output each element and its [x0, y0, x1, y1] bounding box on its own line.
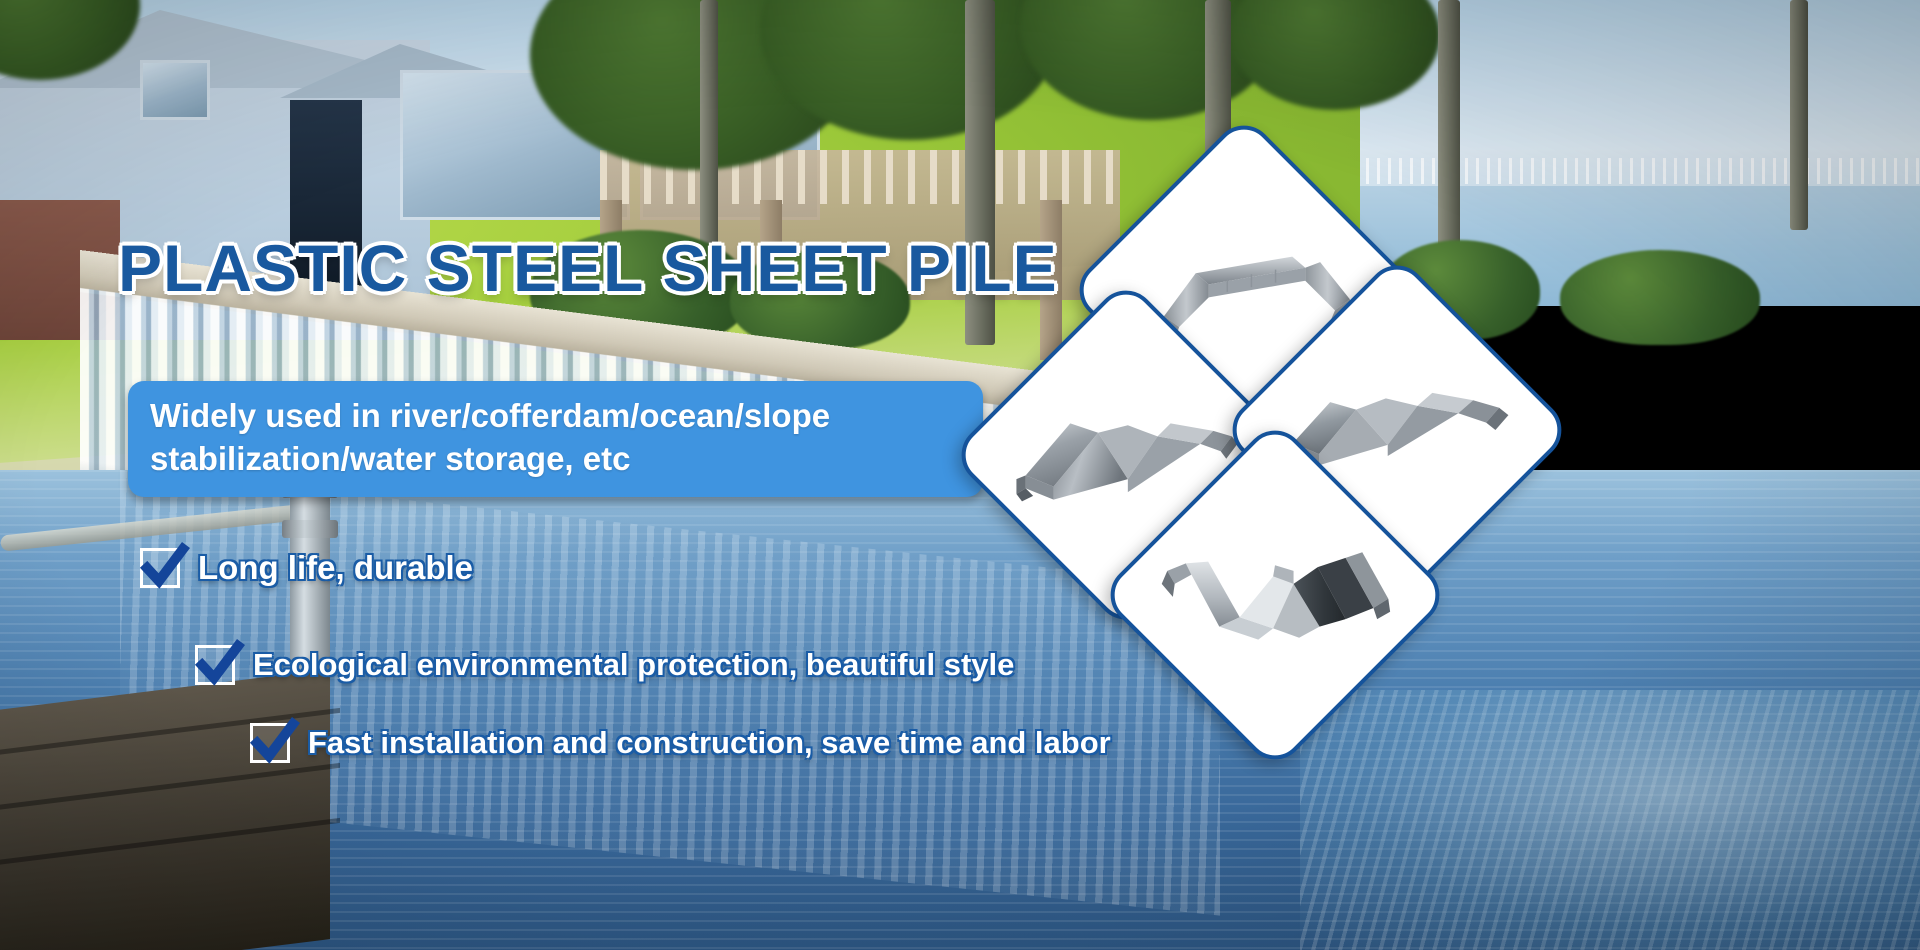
product-banner: PLASTIC STEEL SHEET PILE Widely used in … [0, 0, 1920, 950]
product-card-group [0, 0, 1920, 950]
sheet-pile-profile-w-type-icon [1150, 530, 1400, 660]
